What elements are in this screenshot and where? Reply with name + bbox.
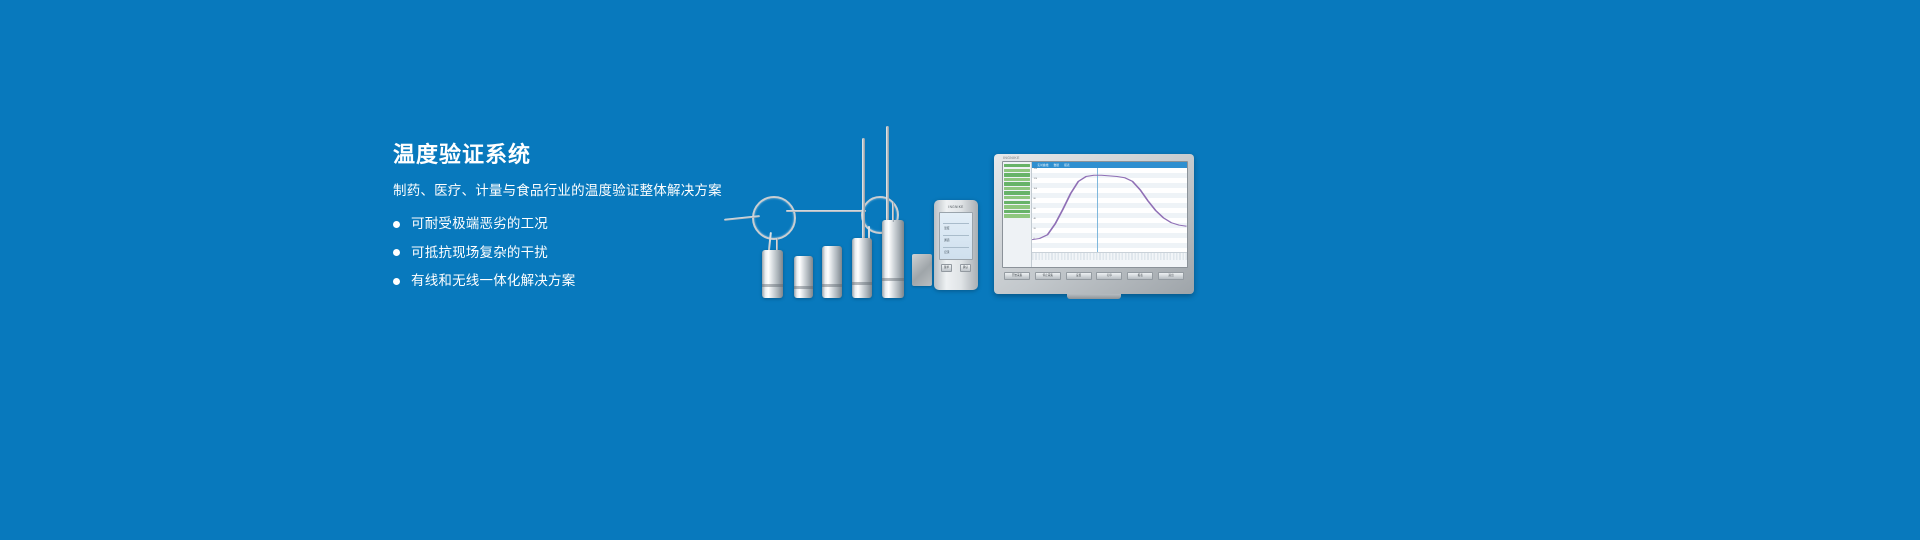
logger-antenna (892, 202, 894, 222)
feature-label: 有线和无线一体化解决方案 (411, 272, 575, 290)
industrial-monitor[interactable]: INGNIKE 实时曲线 数据 报表 (994, 154, 1194, 294)
list-item: 可抵抗现场复杂的干扰 (393, 244, 753, 262)
bullet-icon (393, 278, 400, 285)
hero-banner: 温度验证系统 制药、医疗、计量与食品行业的温度验证整体解决方案 可耐受极端恶劣的… (0, 0, 1920, 540)
handheld-screen-line-3: 记录 (944, 250, 950, 254)
data-table-strip (1032, 252, 1187, 267)
logger-medium (852, 238, 872, 298)
bullet-icon (393, 249, 400, 256)
coiled-probe-icon (752, 196, 796, 240)
handheld-key-menu[interactable]: 菜单 (941, 264, 952, 272)
hero-text-block: 温度验证系统 制药、医疗、计量与食品行业的温度验证整体解决方案 可耐受极端恶劣的… (393, 142, 753, 301)
list-item: 可耐受极端恶劣的工况 (393, 215, 753, 233)
monitor-screen[interactable]: 实时曲线 数据 报表 140 120 100 80 60 40 20 (1002, 161, 1188, 268)
channel-legend-panel[interactable] (1003, 162, 1032, 267)
report-button[interactable]: 报表 (1127, 272, 1153, 280)
product-lineup-image: INGNIKE 温度 通道 记录 菜单 确认 INGNIKE (716, 120, 1206, 305)
probe-wire (786, 210, 866, 212)
chart-tab-report[interactable]: 报表 (1064, 163, 1070, 167)
monitor-brand-label: INGNIKE (1003, 156, 1020, 160)
stop-button[interactable]: 停止采集 (1035, 272, 1061, 280)
handheld-screen-line-2: 通道 (944, 238, 950, 242)
logger-large (882, 220, 904, 298)
handheld-brand-label: INGNIKE (938, 205, 974, 209)
feature-list: 可耐受极端恶劣的工况 可抵抗现场复杂的干扰 有线和无线一体化解决方案 (393, 215, 753, 290)
handheld-device[interactable]: INGNIKE 温度 通道 记录 菜单 确认 (934, 200, 978, 290)
settings-button[interactable]: 设置 (1066, 272, 1092, 280)
temperature-curve (1032, 168, 1187, 253)
temperature-curve-plot: 140 120 100 80 60 40 20 0 (1032, 168, 1187, 253)
start-button[interactable]: 开始采集 (1004, 272, 1030, 280)
handheld-screen-line-1: 温度 (944, 226, 950, 230)
chart-tab-realtime[interactable]: 实时曲线 (1037, 163, 1048, 167)
handheld-screen: 温度 通道 记录 (939, 212, 973, 260)
monitor-button-bar[interactable]: 开始采集 停止采集 设置 打印 报表 退出 (1002, 272, 1186, 280)
exit-button[interactable]: 退出 (1158, 272, 1184, 280)
handheld-key-confirm[interactable]: 确认 (960, 264, 971, 272)
list-item: 有线和无线一体化解决方案 (393, 272, 753, 290)
chart-tab-data[interactable]: 数据 (1054, 163, 1060, 167)
monitor-stand (1067, 294, 1121, 299)
chart-area: 实时曲线 数据 报表 140 120 100 80 60 40 20 (1032, 162, 1187, 267)
logger-small (794, 256, 813, 298)
logger-small (762, 250, 783, 298)
hero-subtitle: 制药、医疗、计量与食品行业的温度验证整体解决方案 (393, 182, 753, 201)
bullet-icon (393, 221, 400, 228)
print-button[interactable]: 打印 (1096, 272, 1122, 280)
feature-label: 可耐受极端恶劣的工况 (411, 215, 548, 233)
page-title: 温度验证系统 (393, 142, 753, 168)
handheld-keypad[interactable]: 菜单 确认 (941, 264, 971, 272)
feature-label: 可抵抗现场复杂的干扰 (411, 244, 548, 262)
logger-medium (822, 246, 842, 298)
sensor-block (912, 254, 932, 286)
